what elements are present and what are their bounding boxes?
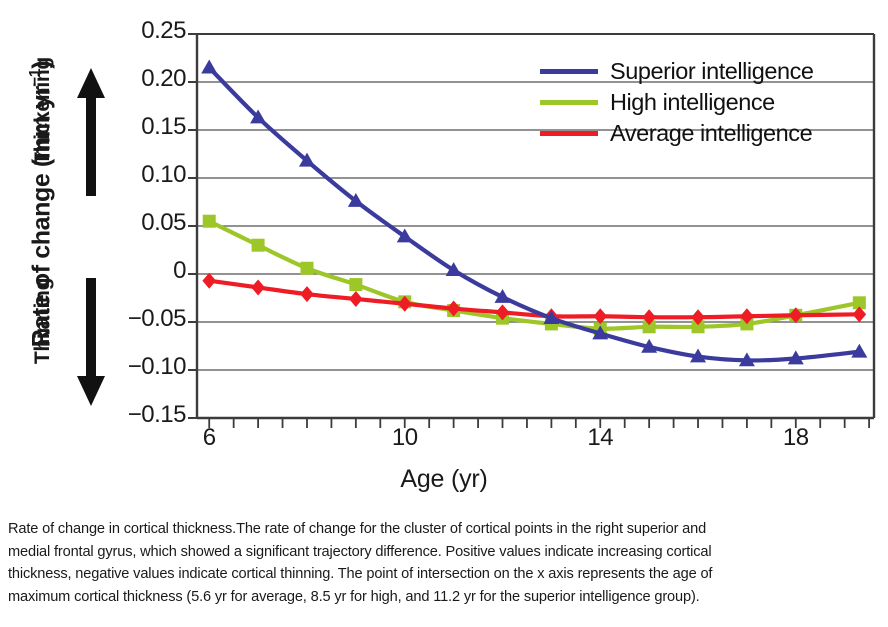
data-point-marker xyxy=(252,239,265,252)
legend-label: Superior intelligence xyxy=(610,58,814,85)
caption-line: maximum cortical thickness (5.6 yr for a… xyxy=(8,586,878,609)
x-tick-label: 6 xyxy=(169,424,249,452)
x-tick-label: 18 xyxy=(756,424,836,452)
x-tick-label: 10 xyxy=(365,424,445,452)
caption-line: medial frontal gyrus, which showed a sig… xyxy=(8,541,878,564)
x-axis-title: Age (yr) xyxy=(0,465,888,494)
data-point-marker xyxy=(203,215,216,228)
legend-item[interactable]: Average intelligence xyxy=(540,118,870,149)
x-tick-label: 14 xyxy=(560,424,640,452)
legend-color-swatch xyxy=(540,131,598,136)
figure-panel: Rate of change (mm yr−1) Thickening Thin… xyxy=(0,0,888,510)
x-axis-tick-labels: 6101418 xyxy=(0,424,888,464)
legend-label: Average intelligence xyxy=(610,120,812,147)
data-point-marker xyxy=(300,262,313,275)
caption-line: thickness, negative values indicate cort… xyxy=(8,563,878,586)
legend-color-swatch xyxy=(540,100,598,105)
legend-item[interactable]: Superior intelligence xyxy=(540,56,870,87)
caption-line: Rate of change in cortical thickness.The… xyxy=(8,518,878,541)
figure-caption: Rate of change in cortical thickness.The… xyxy=(0,512,888,627)
legend-item[interactable]: High intelligence xyxy=(540,87,870,118)
legend-label: High intelligence xyxy=(610,89,775,116)
legend-color-swatch xyxy=(540,69,598,74)
legend: Superior intelligenceHigh intelligenceAv… xyxy=(540,56,870,149)
data-point-marker xyxy=(349,278,362,291)
